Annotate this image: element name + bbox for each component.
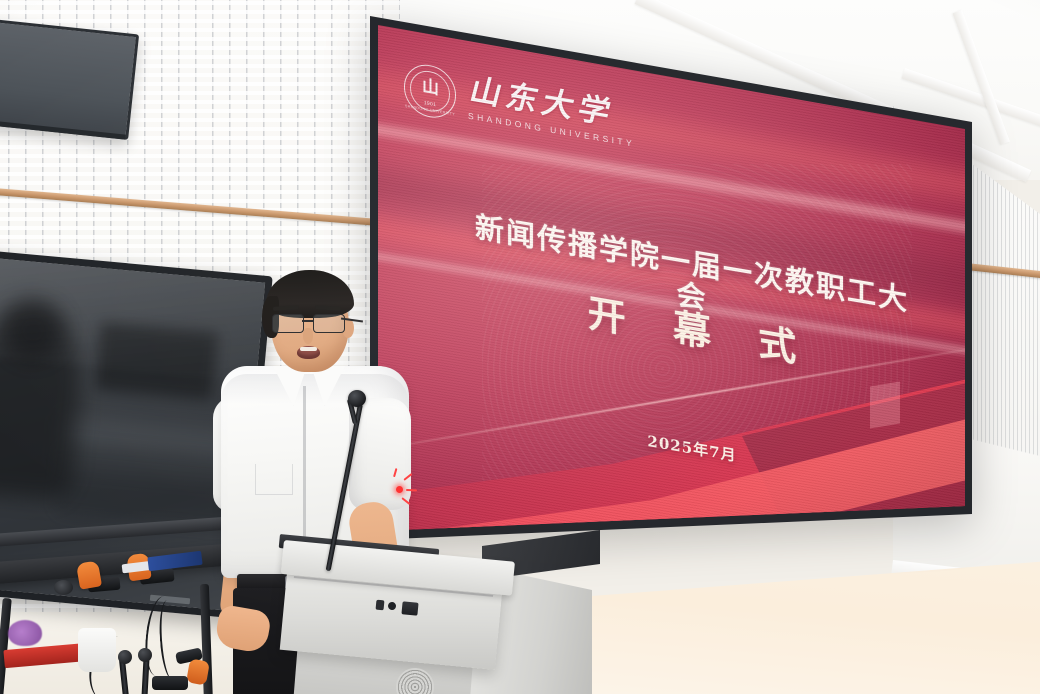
microphone-capsule-icon (348, 390, 366, 407)
power-switch[interactable] (401, 601, 418, 615)
microphone-base (152, 676, 188, 690)
control-knob[interactable] (54, 580, 73, 595)
glasses-bridge (302, 320, 314, 322)
microphone-capsule-icon (118, 650, 132, 664)
conference-room-photo: 山 1901 SHANDONG UNIVERSITY 山东大学 SHANDONG… (0, 0, 1040, 694)
backdrop-accent-block (870, 381, 900, 428)
decorative-flower (8, 620, 42, 646)
led-wall-screen: 山 1901 SHANDONG UNIVERSITY 山东大学 SHANDONG… (352, 0, 972, 554)
lens (272, 314, 304, 333)
led-glow-ray (406, 489, 417, 491)
nose (303, 328, 313, 344)
connector-port[interactable] (376, 600, 385, 611)
mouth (297, 346, 320, 359)
table-leg (0, 598, 12, 694)
white-container (78, 628, 116, 672)
led-video-wall[interactable]: 山 1901 SHANDONG UNIVERSITY 山东大学 SHANDONG… (352, 0, 972, 554)
microphone-status-led (396, 486, 403, 493)
hair (266, 270, 354, 318)
shirt-pocket (255, 464, 293, 495)
microphone-capsule-icon (138, 648, 152, 662)
wall-mounted-television[interactable] (0, 18, 139, 140)
